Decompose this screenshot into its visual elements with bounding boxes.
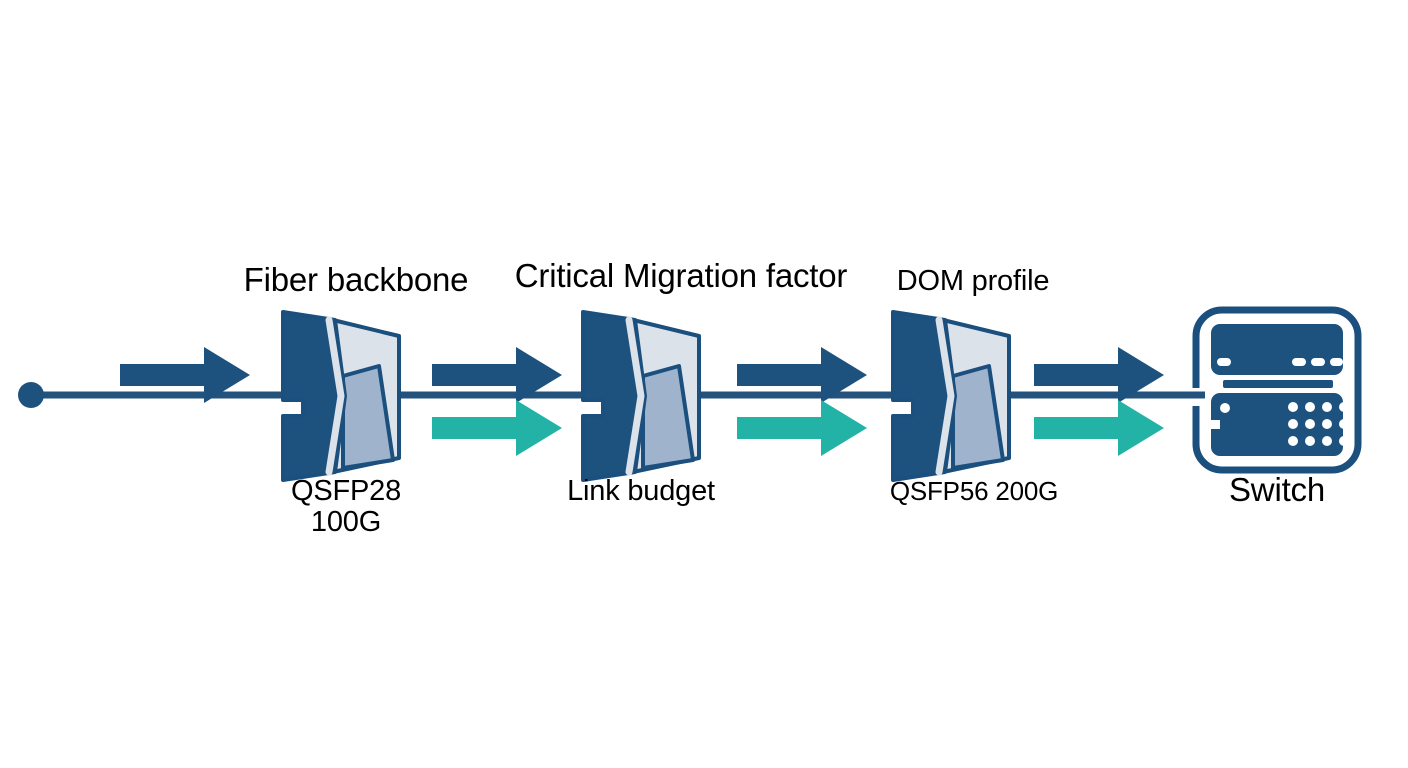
switch-top-port-right-2 [1311,358,1325,366]
folder-node-icon-qsfp56[interactable] [893,312,1009,480]
label-dom-profile: DOM profile [897,266,1050,297]
label-link-budget: Link budget [567,476,715,507]
label-critical-migration-factor: Critical Migration factor [515,258,847,294]
switch-top-port-right-3 [1330,358,1343,366]
label-qsfp28-group: QSFP28 100G [291,476,401,539]
switch-top-unit [1211,324,1343,375]
switch-bottom-port-left-1 [1220,403,1230,413]
switch-unit-divider [1223,380,1333,388]
arrow-teal-3 [1034,400,1164,456]
switch-top-port-left-1 [1217,358,1231,366]
diagram-graphics [0,0,1408,768]
arrow-teal-1 [432,400,562,456]
arrow-teal-2 [737,400,867,456]
label-fiber-backbone: Fiber backbone [244,262,469,298]
label-switch: Switch [1229,472,1325,508]
label-qsfp56-200g: QSFP56 200G [890,477,1058,505]
diagram-canvas: Fiber backbone Critical Migration factor… [0,0,1408,768]
label-qsfp28-line2: 100G [291,507,401,538]
folder-node-icon-qsfp28[interactable] [283,312,399,480]
switch-icon[interactable] [1196,310,1358,470]
folder-node-icon-link-budget[interactable] [583,312,699,480]
node-icons-group [283,312,1009,480]
switch-top-port-right-1 [1292,358,1306,366]
origin-dot [18,382,44,408]
teal-arrows-group [432,400,1164,456]
label-qsfp28-line1: QSFP28 [291,476,401,507]
